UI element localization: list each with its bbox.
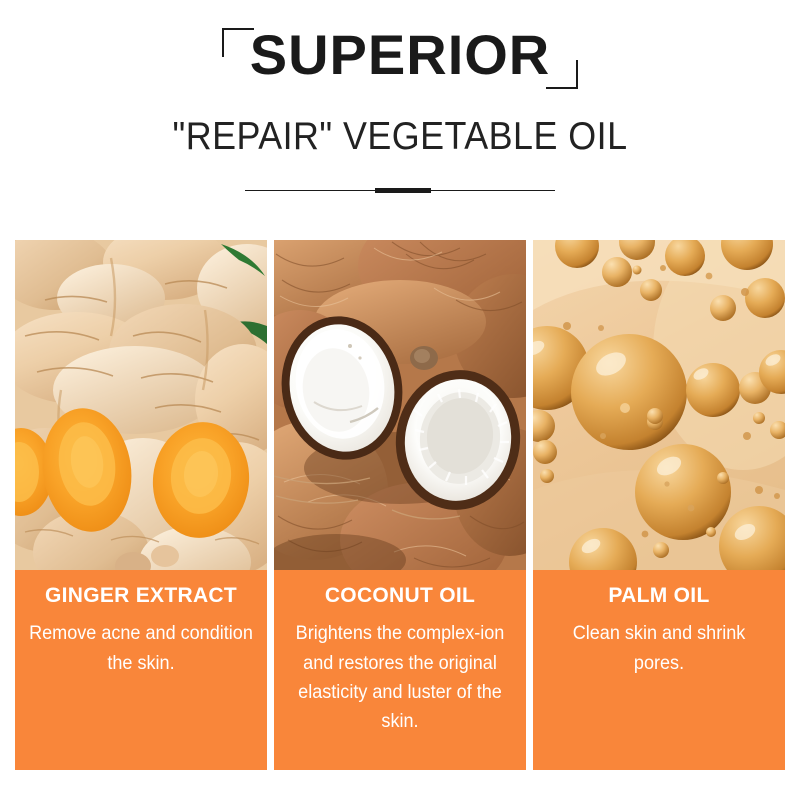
ingredient-panel-coconut-oil[interactable]: COCONUT OIL Brightens the complex-ion an… xyxy=(274,240,526,770)
caption-ginger-extract: GINGER EXTRACT Remove acne and condition… xyxy=(15,570,267,770)
palm-oil-bubbles-illustration xyxy=(533,240,785,570)
ingredient-panel-group: GINGER EXTRACT Remove acne and condition… xyxy=(15,240,785,770)
caption-body: Brightens the complex-ion and restores t… xyxy=(288,619,512,737)
title-block: SUPERIOR xyxy=(216,26,585,101)
caption-palm-oil: PALM OIL Clean skin and shrink pores. xyxy=(533,570,785,770)
ginger-root-illustration xyxy=(15,240,267,570)
ginger-root-photo xyxy=(15,240,267,570)
caption-title: COCONUT OIL xyxy=(282,584,518,607)
corner-bracket-bottom-right-icon xyxy=(546,60,578,89)
ingredient-panel-palm-oil[interactable]: PALM OIL Clean skin and shrink pores. xyxy=(533,240,785,770)
page-subtitle: "REPAIR" VEGETABLE OIL xyxy=(32,115,768,159)
palm-oil-bubbles-photo xyxy=(533,240,785,570)
coconut-illustration xyxy=(274,240,526,570)
caption-coconut-oil: COCONUT OIL Brightens the complex-ion an… xyxy=(274,570,526,770)
caption-body: Remove acne and condition the skin. xyxy=(29,619,253,678)
caption-title: PALM OIL xyxy=(541,584,777,607)
caption-body: Clean skin and shrink pores. xyxy=(547,619,771,678)
section-divider xyxy=(245,187,555,195)
ingredient-panel-ginger-extract[interactable]: GINGER EXTRACT Remove acne and condition… xyxy=(15,240,267,770)
divider-accent-segment xyxy=(375,188,431,193)
coconut-photo xyxy=(274,240,526,570)
page-title: SUPERIOR xyxy=(250,26,551,85)
caption-title: GINGER EXTRACT xyxy=(23,584,259,607)
header: SUPERIOR "REPAIR" VEGETABLE OIL xyxy=(0,0,800,195)
